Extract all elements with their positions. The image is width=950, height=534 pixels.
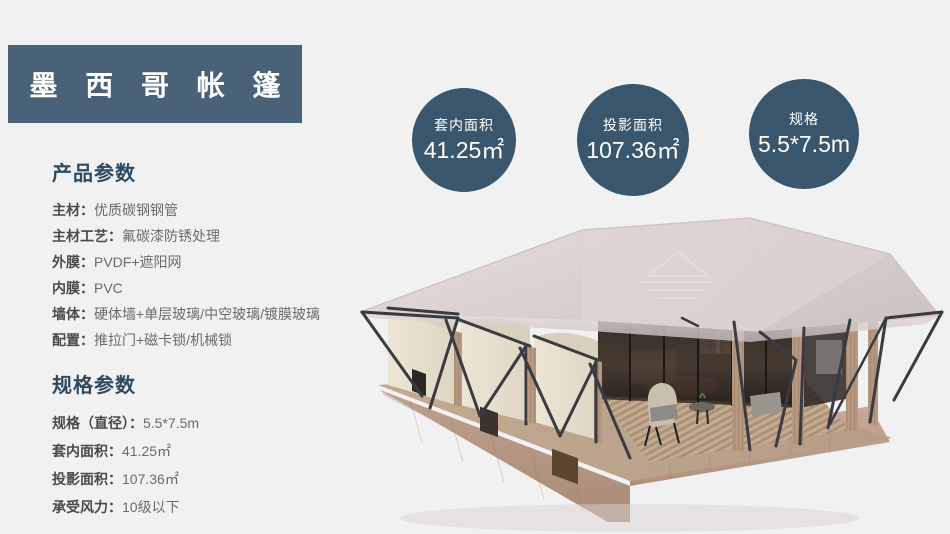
spec-key: 外膜： [52, 254, 94, 270]
page-title: 墨 西 哥 帐 篷 [19, 64, 290, 104]
product-params-heading: 产品参数 [52, 163, 382, 185]
tent-render-image [330, 200, 950, 534]
spec-key: 主材工艺： [52, 228, 122, 244]
badge-size: 规格 5.5*7.5m [749, 79, 859, 189]
spec-value: 5.5*7.5m [143, 415, 199, 431]
spec-key: 套内面积： [52, 443, 122, 459]
spec-value: 硬体墙+单层玻璃/中空玻璃/镀膜玻璃 [94, 306, 320, 322]
title-banner: 墨 西 哥 帐 篷 [8, 45, 302, 123]
badge-label: 投影面积 [603, 118, 663, 132]
spec-key: 配置： [52, 332, 94, 348]
badge-label: 套内面积 [434, 118, 494, 132]
page-root: 墨 西 哥 帐 篷 产品参数 主材：优质碳钢钢管 主材工艺：氟碳漆防锈处理 外膜… [0, 0, 950, 534]
badge-projected-area: 投影面积 107.36㎡ [577, 84, 689, 196]
badge-interior-area: 套内面积 41.25㎡ [412, 88, 516, 192]
spec-value: 41.25㎡ [122, 443, 171, 459]
ground-shadow [400, 504, 860, 532]
spec-value: PVC [94, 280, 123, 296]
spec-value: PVDF+遮阳网 [94, 254, 182, 270]
badge-value: 107.36㎡ [586, 139, 679, 162]
badge-value: 41.25㎡ [424, 139, 505, 162]
badge-value: 5.5*7.5m [758, 133, 850, 156]
spec-key: 内膜： [52, 280, 94, 296]
spec-key: 墙体： [52, 306, 94, 322]
spec-key: 承受风力： [52, 499, 122, 515]
spec-value: 氟碳漆防锈处理 [122, 228, 220, 244]
spec-value: 优质碳钢钢管 [94, 202, 178, 218]
spec-key: 主材： [52, 202, 94, 218]
spec-value: 107.36㎡ [122, 471, 179, 487]
spec-key: 投影面积： [52, 471, 122, 487]
spec-value: 10级以下 [122, 499, 180, 515]
spec-key: 规格（直径）： [52, 415, 143, 431]
spec-value: 推拉门+磁卡锁/机械锁 [94, 332, 232, 348]
terrace-bench [750, 392, 782, 416]
badge-label: 规格 [789, 112, 819, 126]
